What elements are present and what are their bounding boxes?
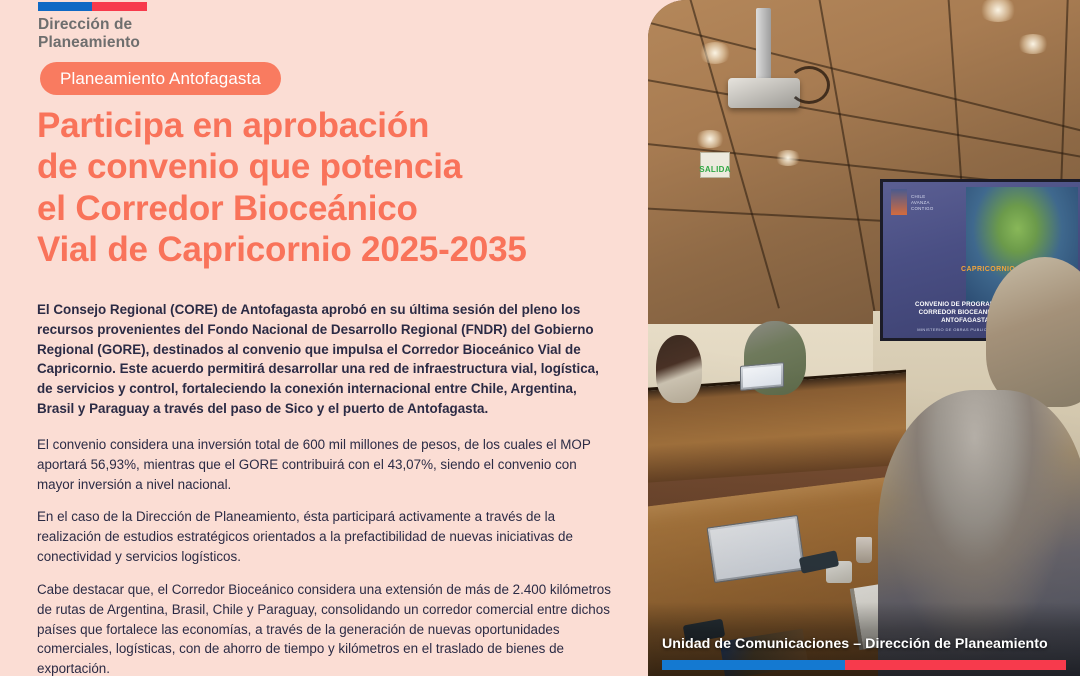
photo-scene: SALIDA CHILEAVANZACONTIGO CAPRICORNIO CO… (648, 0, 1080, 676)
headline-line-2: de convenio que potencia (37, 146, 637, 187)
photo-vignette (648, 0, 1080, 676)
page-title: Participa en aprobación de convenio que … (37, 105, 637, 270)
logo-text: Dirección de Planeamiento (38, 16, 238, 52)
logo-line-2: Planeamiento (38, 34, 140, 51)
chile-flag-footer-icon (662, 660, 1066, 670)
headline-line-3: el Corredor Bioceánico (37, 188, 637, 229)
category-badge-label: Planeamiento Antofagasta (60, 69, 261, 89)
organization-logo: Dirección de Planeamiento (38, 2, 238, 52)
headline-line-4: Vial de Capricornio 2025-2035 (37, 229, 637, 270)
logo-line-1: Dirección de (38, 16, 132, 33)
poster-page: Dirección de Planeamiento Planeamiento A… (0, 0, 1080, 676)
paragraph-4: Cabe destacar que, el Corredor Bioceánic… (37, 580, 615, 676)
flag-blue-stripe (38, 2, 92, 11)
paragraph-3: En el caso de la Dirección de Planeamien… (37, 507, 615, 566)
meeting-photo: SALIDA CHILEAVANZACONTIGO CAPRICORNIO CO… (648, 0, 1080, 676)
paragraph-2: El convenio considera una inversión tota… (37, 435, 615, 494)
paragraph-1: El Consejo Regional (CORE) de Antofagast… (37, 300, 615, 419)
flag-red-stripe (92, 2, 147, 11)
footer-flag-red (845, 660, 1066, 670)
article-body: El Consejo Regional (CORE) de Antofagast… (37, 300, 615, 676)
footer-flag-blue (662, 660, 845, 670)
photo-credit: Unidad de Comunicaciones – Dirección de … (662, 636, 1070, 652)
chile-flag-icon (38, 2, 147, 11)
left-content-column: Dirección de Planeamiento Planeamiento A… (0, 0, 648, 676)
category-badge[interactable]: Planeamiento Antofagasta (40, 62, 281, 95)
headline-line-1: Participa en aprobación (37, 105, 637, 146)
